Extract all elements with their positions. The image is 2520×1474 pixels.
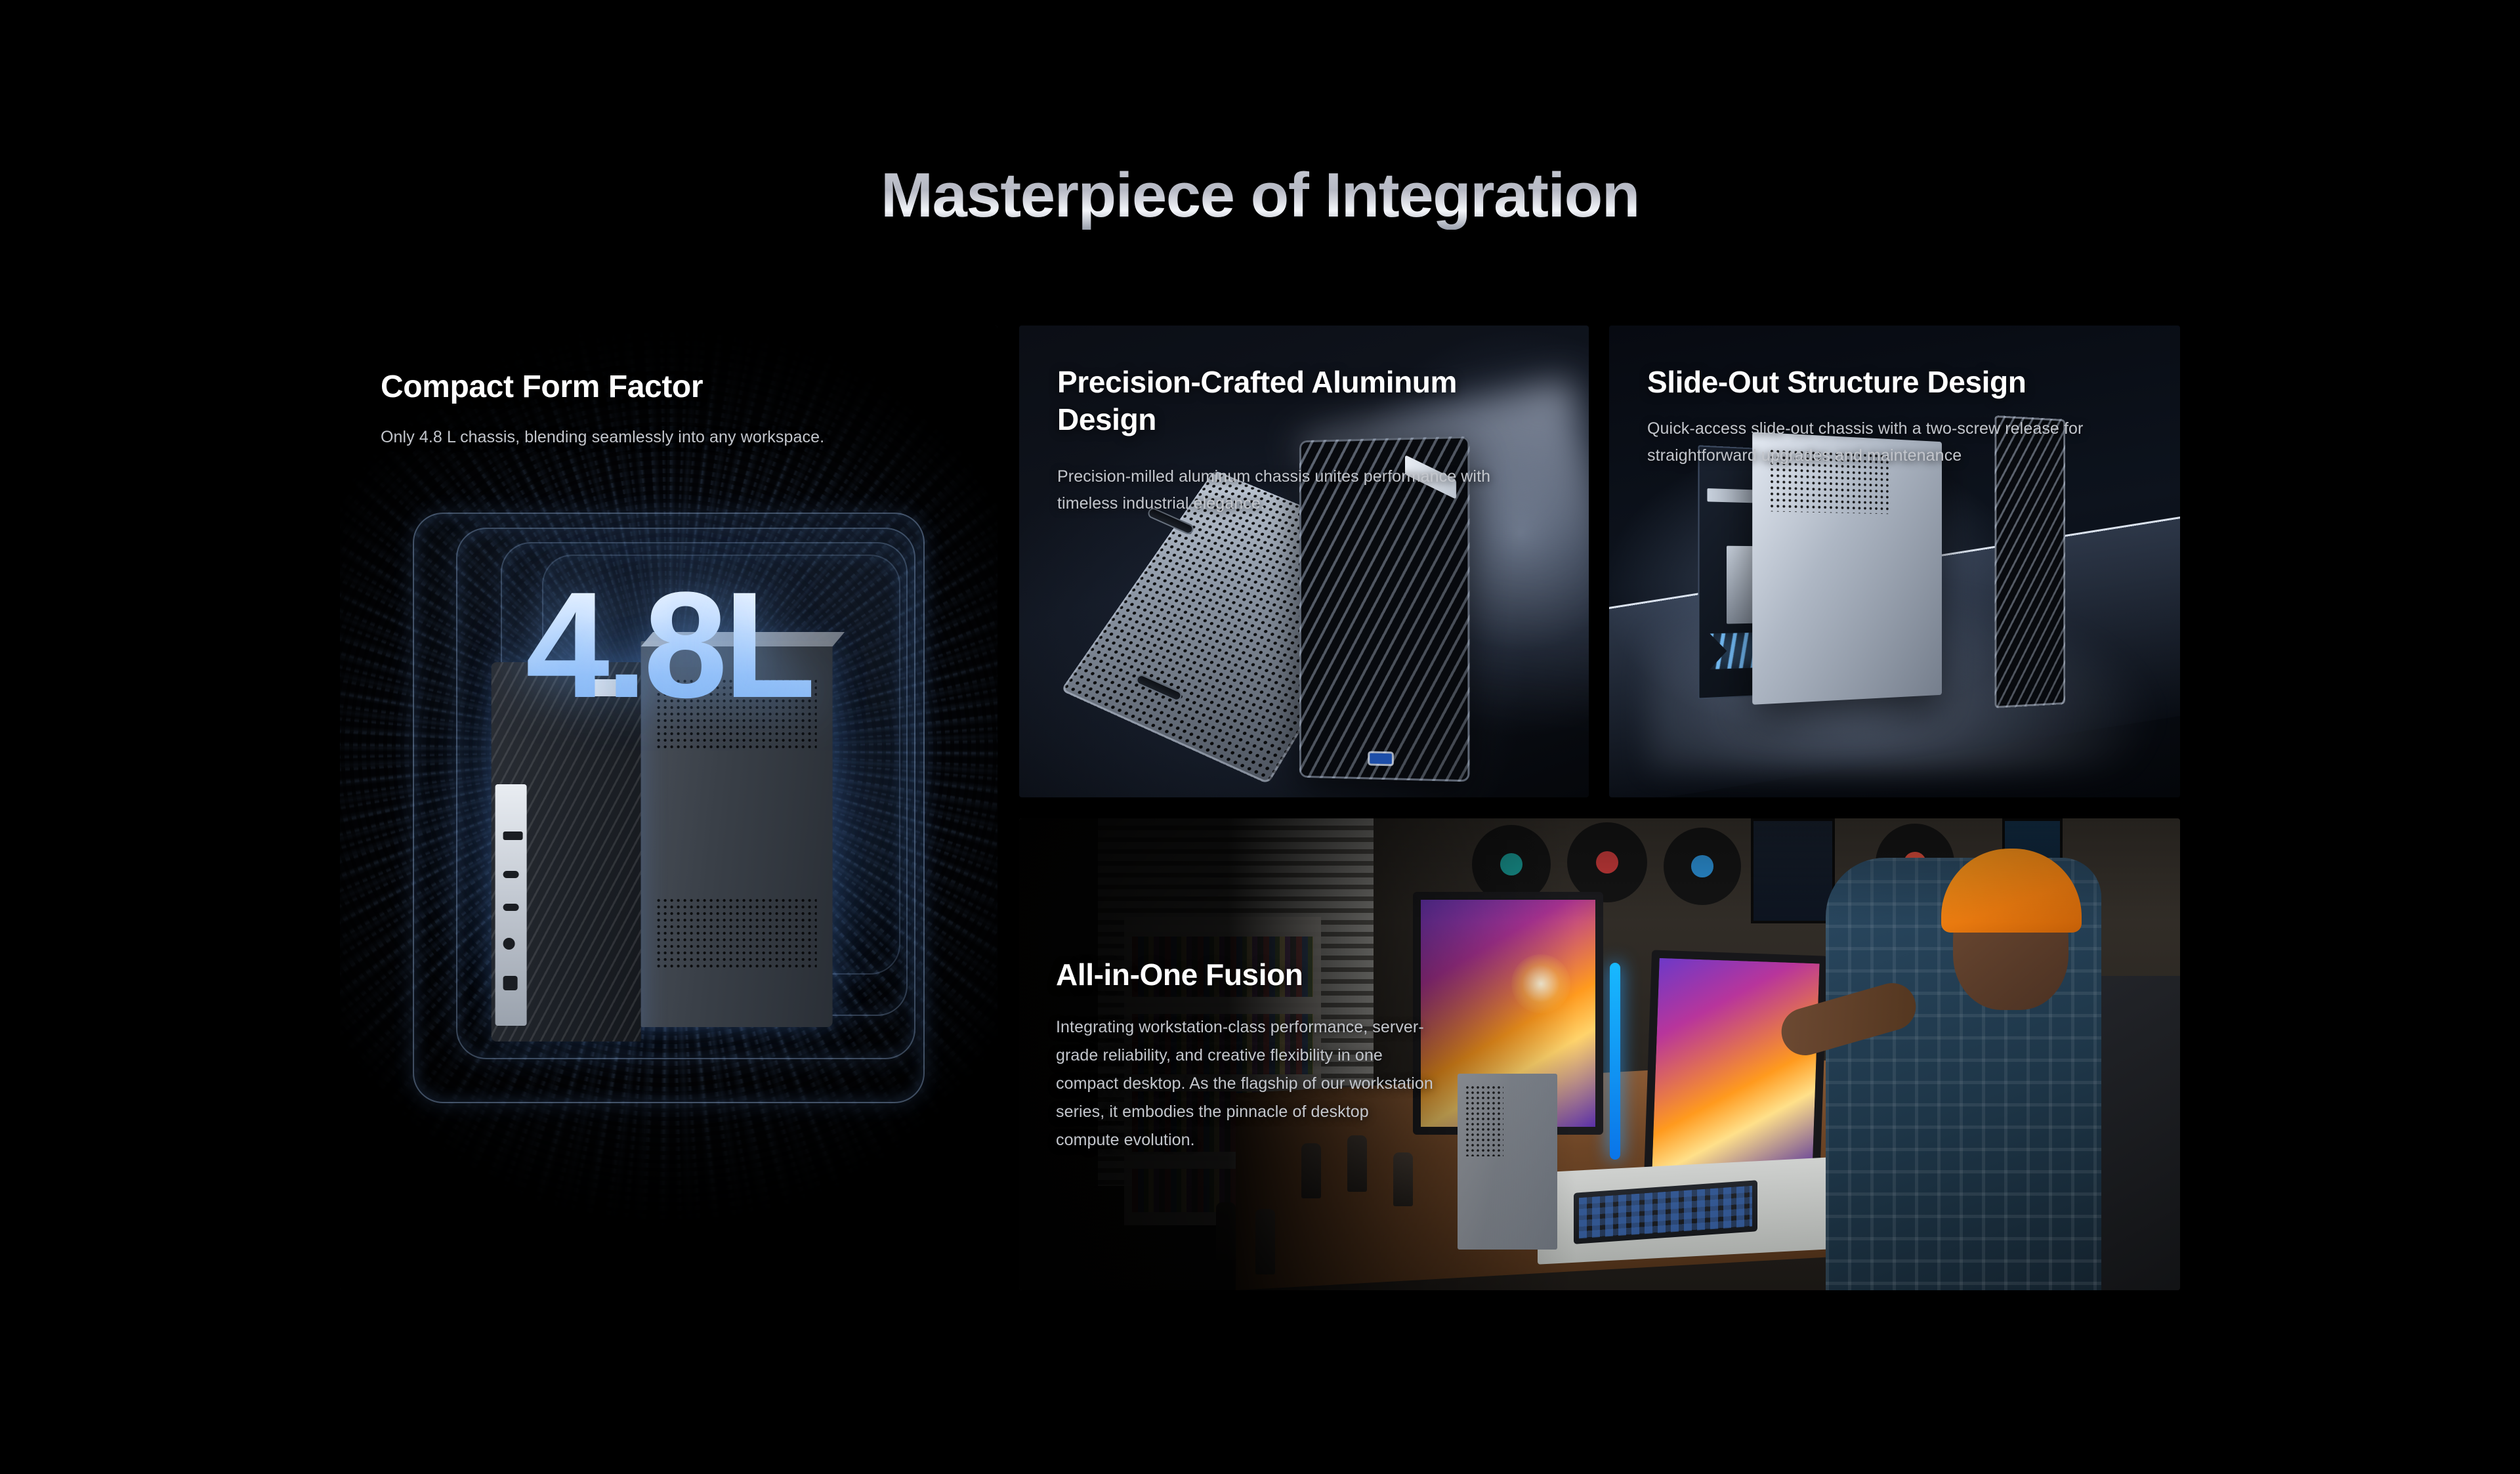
- card-title: All-in-One Fusion: [1056, 956, 1437, 994]
- page-title: Masterpiece of Integration: [0, 161, 2520, 230]
- card-text-block: All-in-One Fusion Integrating workstatio…: [1056, 956, 1437, 1154]
- usb-a-port: [1370, 753, 1392, 765]
- card-text-block: Slide-Out Structure Design Quick-access …: [1647, 364, 2159, 469]
- volume-callout-label: 4.8L: [526, 570, 812, 721]
- card-description: Integrating workstation-class performanc…: [1056, 1013, 1437, 1154]
- card-description: Only 4.8 L chassis, blending seamlessly …: [381, 424, 945, 451]
- usb-a-port: [503, 832, 523, 840]
- usb-c-port: [503, 904, 519, 911]
- feature-card-grid: 4.8L Compact Form Factor Only 4.8 L chas…: [340, 326, 2180, 1290]
- card-title: Compact Form Factor: [381, 368, 945, 407]
- card-title: Precision-Crafted Aluminum Design: [1057, 364, 1543, 438]
- usb-c-port: [503, 871, 519, 878]
- feature-card-slide-out-structure[interactable]: Slide-Out Structure Design Quick-access …: [1609, 326, 2180, 797]
- card-text-block: Precision-Crafted Aluminum Design Precis…: [1057, 364, 1543, 516]
- card-title: Slide-Out Structure Design: [1647, 364, 2159, 401]
- feature-card-precision-aluminum[interactable]: Precision-Crafted Aluminum Design Precis…: [1019, 326, 1589, 797]
- feature-card-compact-form-factor[interactable]: 4.8L Compact Form Factor Only 4.8 L chas…: [340, 326, 997, 1290]
- feature-card-all-in-one-fusion[interactable]: All-in-One Fusion Integrating workstatio…: [1019, 818, 2180, 1290]
- card-description: Precision-milled aluminum chassis unites…: [1057, 463, 1543, 516]
- page-root: Masterpiece of Integration: [0, 0, 2520, 1474]
- card-description: Quick-access slide-out chassis with a tw…: [1647, 415, 2159, 469]
- tower-vent-grill: [657, 898, 817, 971]
- m2-ssd-module: [1727, 546, 1754, 624]
- card-text-block: Compact Form Factor Only 4.8 L chassis, …: [381, 368, 945, 450]
- audio-jack-port: [503, 938, 515, 950]
- chassis-side-panel: [1752, 432, 1942, 705]
- power-button: [503, 976, 518, 990]
